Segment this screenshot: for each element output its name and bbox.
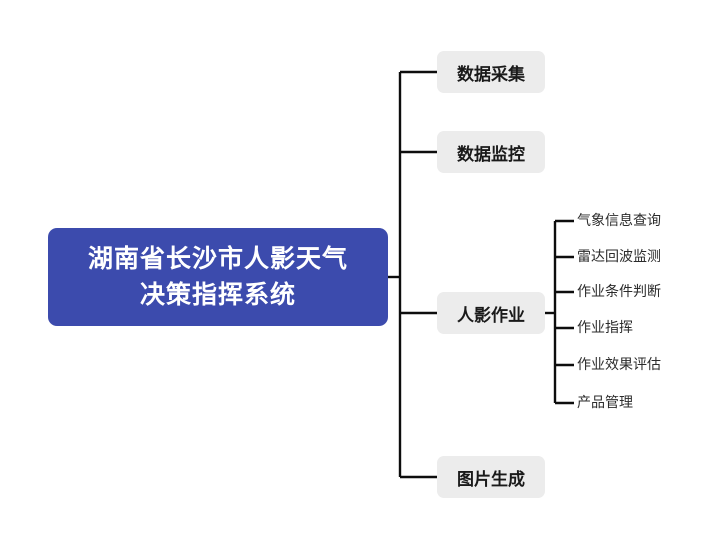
leaf-node-radar-echo-monitoring[interactable]: 雷达回波监测 [577,248,661,266]
leaf-node-weather-info-query[interactable]: 气象信息查询 [577,212,661,230]
branch-node-label: 图片生成 [457,465,525,490]
root-node-line2: 决策指挥系统 [88,277,348,313]
leaf-node-product-management[interactable]: 产品管理 [577,394,633,412]
leaf-node-operation-effect-evaluation[interactable]: 作业效果评估 [577,356,661,374]
branch-node-label: 人影作业 [457,301,525,326]
branch-node-image-generation[interactable]: 图片生成 [437,456,545,498]
leaf-node-operation-command[interactable]: 作业指挥 [577,319,633,337]
branch-node-data-monitoring[interactable]: 数据监控 [437,131,545,173]
branch-node-label: 数据监控 [457,140,525,165]
root-node-text: 湖南省长沙市人影天气 决策指挥系统 [88,241,348,313]
leaf-node-operation-condition-judgement[interactable]: 作业条件判断 [577,283,661,301]
root-node-line1: 湖南省长沙市人影天气 [88,244,348,273]
mindmap-canvas: 湖南省长沙市人影天气 决策指挥系统 数据采集 数据监控 人影作业 图片生成 气象… [0,0,718,547]
branch-node-label: 数据采集 [457,60,525,85]
branch-node-data-collection[interactable]: 数据采集 [437,51,545,93]
root-node[interactable]: 湖南省长沙市人影天气 决策指挥系统 [48,228,388,326]
branch-node-weather-modification[interactable]: 人影作业 [437,292,545,334]
